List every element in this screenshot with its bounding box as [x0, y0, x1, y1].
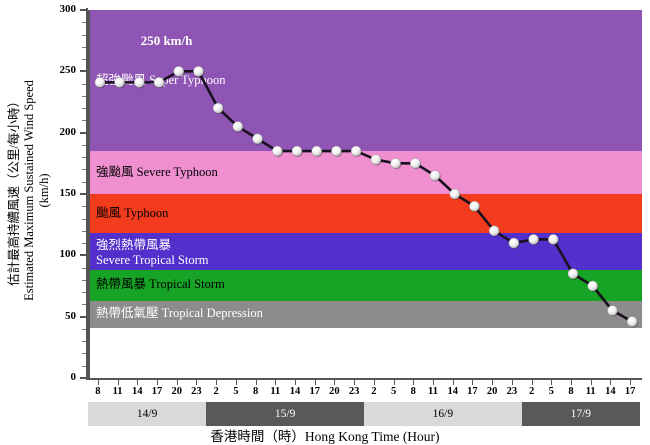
y-minor-tick — [82, 47, 86, 48]
y-tick-label-100: 100 — [40, 248, 76, 260]
data-point-marker — [351, 146, 362, 157]
data-point-marker — [115, 77, 126, 88]
y-minor-tick — [82, 59, 86, 60]
y-tick-100 — [80, 254, 86, 256]
series-line — [100, 71, 632, 321]
x-tick-20 — [492, 380, 493, 385]
y-minor-tick — [82, 243, 86, 244]
x-tick-23 — [551, 380, 552, 385]
y-minor-tick — [82, 268, 86, 269]
y-minor-tick — [82, 280, 86, 281]
data-point-marker — [509, 238, 520, 249]
y-tick-label-150: 150 — [40, 187, 76, 199]
x-tick-26 — [610, 380, 611, 385]
x-tick-7 — [236, 380, 237, 385]
data-point-marker — [272, 146, 283, 157]
x-tick-18 — [453, 380, 454, 385]
y-minor-tick — [82, 108, 86, 109]
y-minor-tick — [82, 84, 86, 85]
x-tick-12 — [334, 380, 335, 385]
data-point-marker — [607, 306, 618, 317]
y-tick-250 — [80, 70, 86, 72]
y-tick-300 — [80, 9, 86, 11]
data-point-marker — [489, 226, 500, 237]
data-point-marker — [391, 158, 402, 169]
date-bar-15-9: 15/9 — [206, 402, 364, 426]
data-point-marker — [410, 158, 421, 169]
x-tick-19 — [472, 380, 473, 385]
y-minor-tick — [82, 35, 86, 36]
data-point-marker — [568, 269, 579, 280]
y-minor-tick — [82, 157, 86, 158]
x-tick-5 — [196, 380, 197, 385]
y-minor-tick — [82, 329, 86, 330]
x-tick-10 — [295, 380, 296, 385]
y-minor-tick — [82, 366, 86, 367]
y-minor-tick — [82, 22, 86, 23]
y-minor-tick — [82, 231, 86, 232]
x-tick-21 — [512, 380, 513, 385]
x-axis-title: 香港時間（時）Hong Kong Time (Hour) — [0, 425, 650, 445]
x-tick-1 — [118, 380, 119, 385]
y-tick-50 — [80, 316, 86, 318]
y-tick-label-300: 300 — [40, 3, 76, 15]
date-bar-17-9: 17/9 — [522, 402, 640, 426]
y-axis-title-line1: 估計最高持續風速（公里/每小時） — [7, 80, 22, 301]
x-tick-2 — [137, 380, 138, 385]
x-tick-17 — [433, 380, 434, 385]
data-point-marker — [548, 234, 559, 245]
x-tick-4 — [177, 380, 178, 385]
y-minor-tick — [82, 353, 86, 354]
data-point-marker — [292, 146, 303, 157]
x-tick-15 — [394, 380, 395, 385]
x-tick-11 — [315, 380, 316, 385]
date-bar-14-9: 14/9 — [88, 402, 206, 426]
date-bar-16-9: 16/9 — [364, 402, 522, 426]
x-axis-line — [86, 378, 642, 380]
data-point-marker — [588, 281, 599, 292]
wind-speed-chart: 估計最高持續風速（公里/每小時） Estimated Maximum Susta… — [0, 0, 650, 440]
plot-area: 熱帶低氣壓 Tropical Depression熱帶風暴 Tropical S… — [88, 10, 642, 378]
y-minor-tick — [82, 96, 86, 97]
y-minor-tick — [82, 182, 86, 183]
y-tick-label-0: 0 — [40, 371, 76, 383]
y-tick-0 — [80, 377, 86, 379]
x-tick-label-27: 17 — [618, 386, 642, 397]
data-point-marker — [213, 103, 224, 114]
x-tick-24 — [571, 380, 572, 385]
x-tick-25 — [591, 380, 592, 385]
data-point-marker — [469, 201, 480, 212]
data-point-marker — [312, 146, 323, 157]
data-point-marker — [450, 189, 461, 200]
y-minor-tick — [82, 304, 86, 305]
wind-speed-series — [90, 10, 642, 378]
y-tick-200 — [80, 132, 86, 134]
data-point-marker — [95, 77, 106, 88]
x-tick-13 — [354, 380, 355, 385]
data-point-marker — [430, 171, 441, 182]
x-tick-8 — [256, 380, 257, 385]
y-tick-label-50: 50 — [40, 310, 76, 322]
y-tick-label-200: 200 — [40, 126, 76, 138]
y-minor-tick — [82, 120, 86, 121]
y-minor-tick — [82, 341, 86, 342]
data-point-marker — [134, 77, 145, 88]
peak-annotation: 250 km/h — [141, 33, 193, 49]
data-point-marker — [253, 134, 264, 145]
data-point-marker — [331, 146, 342, 157]
data-point-marker — [193, 66, 204, 77]
y-axis-title-line2: Estimated Maximum Sustained Wind Speed — [22, 80, 37, 301]
x-tick-0 — [98, 380, 99, 385]
y-minor-tick — [82, 292, 86, 293]
x-tick-22 — [532, 380, 533, 385]
x-tick-14 — [374, 380, 375, 385]
x-tick-27 — [630, 380, 631, 385]
y-minor-tick — [82, 219, 86, 220]
data-point-marker — [371, 155, 382, 166]
y-minor-tick — [82, 206, 86, 207]
y-minor-tick — [82, 145, 86, 146]
x-tick-9 — [275, 380, 276, 385]
data-point-marker — [174, 66, 185, 77]
x-tick-6 — [216, 380, 217, 385]
x-tick-3 — [157, 380, 158, 385]
data-point-marker — [627, 317, 638, 328]
x-tick-16 — [413, 380, 414, 385]
y-tick-label-250: 250 — [40, 64, 76, 76]
y-minor-tick — [82, 169, 86, 170]
data-point-marker — [233, 122, 244, 133]
y-tick-150 — [80, 193, 86, 195]
data-point-marker — [529, 234, 540, 245]
